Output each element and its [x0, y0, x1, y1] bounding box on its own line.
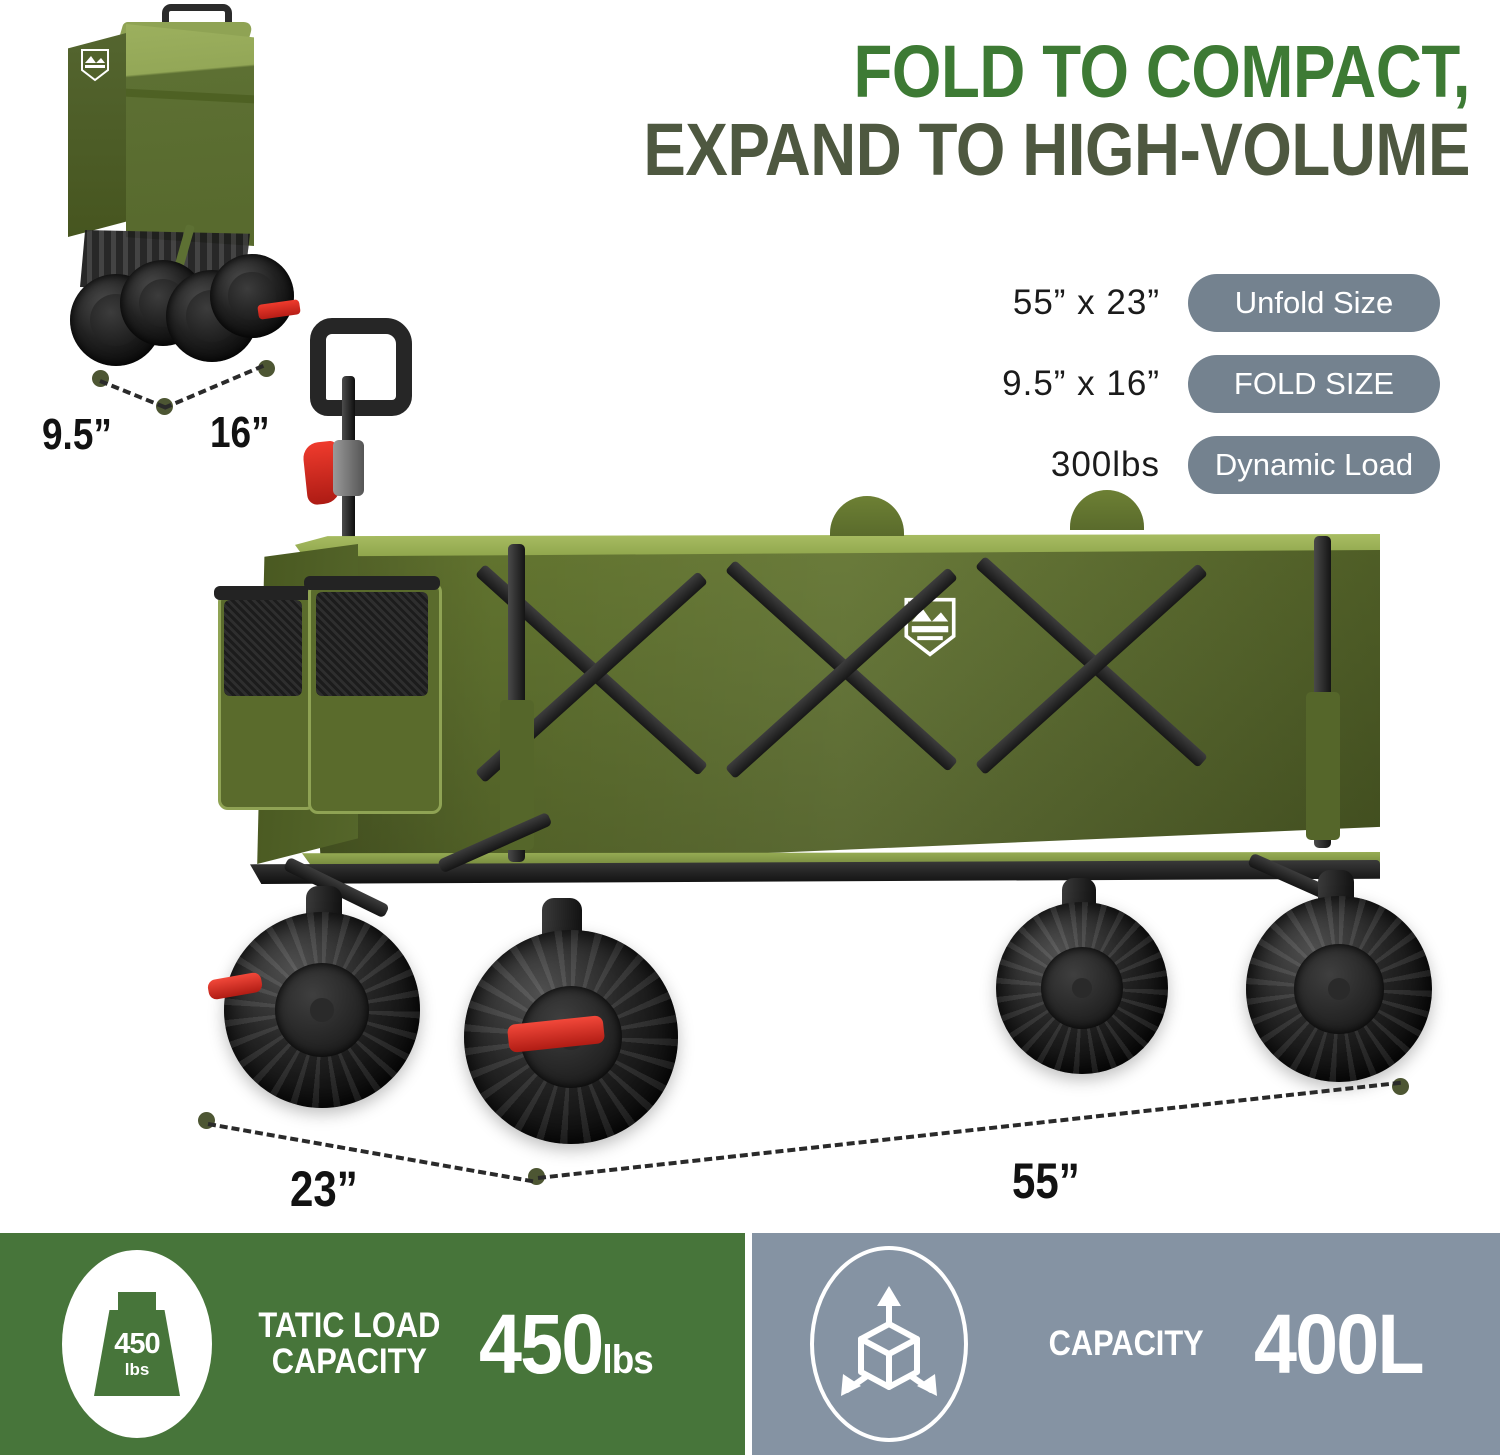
weight-icon-value: 450 — [94, 1328, 180, 1361]
wagon-wheel — [1246, 896, 1432, 1082]
capacity-badge — [810, 1246, 968, 1442]
dimension-line-depth — [208, 1122, 534, 1183]
post-sleeve — [1306, 692, 1340, 840]
handle-collar — [333, 440, 364, 496]
pull-handle-grip — [310, 318, 412, 416]
capacity-value: 400L — [1254, 1296, 1423, 1393]
static-load-number: 450 — [479, 1297, 602, 1391]
banner-capacity: CAPACITY 400L — [752, 1233, 1500, 1455]
banner-static-load: 450 lbs TATIC LOAD CAPACITY 450lbs — [0, 1233, 745, 1455]
volume-box-icon — [833, 1284, 945, 1404]
infographic-canvas: FOLD TO COMPACT, EXPAND TO HIGH-VOLUME 5… — [0, 0, 1500, 1455]
headline: FOLD TO COMPACT, EXPAND TO HIGH-VOLUME — [430, 36, 1470, 186]
static-load-label: TATIC LOAD CAPACITY — [258, 1308, 440, 1381]
weight-icon-unit: lbs — [94, 1360, 180, 1380]
wagon-wheel — [224, 912, 420, 1108]
unfolded-wagon-image — [190, 300, 1450, 1120]
wagon-body-shading — [300, 550, 1380, 872]
folded-depth-label: 9.5” — [42, 410, 112, 460]
unfolded-depth-label: 23” — [290, 1160, 358, 1218]
static-load-value: 450lbs — [479, 1296, 653, 1393]
weight-icon: 450 lbs — [94, 1292, 180, 1396]
folded-front-panel — [126, 24, 254, 246]
capacity-label: CAPACITY — [1049, 1326, 1204, 1362]
capacity-label-line1: CAPACITY — [1049, 1326, 1204, 1362]
brand-logo-icon — [80, 48, 110, 82]
headline-line-2: EXPAND TO HIGH-VOLUME — [576, 114, 1470, 186]
mesh-panel — [224, 600, 302, 696]
static-load-label-line1: TATIC LOAD — [258, 1308, 440, 1344]
frame-hump — [830, 496, 904, 536]
capacity-number: 400L — [1254, 1297, 1423, 1391]
pocket-rim — [304, 576, 440, 590]
dimension-line-depth — [99, 379, 165, 409]
static-load-label-line2: CAPACITY — [258, 1344, 440, 1380]
frame-hump — [1070, 490, 1144, 530]
unfolded-length-label: 55” — [1012, 1152, 1080, 1210]
static-load-unit: lbs — [602, 1338, 652, 1382]
weight-icon-handle — [118, 1292, 156, 1312]
wagon-wheel — [996, 902, 1168, 1074]
pocket-rim — [214, 586, 314, 600]
mesh-panel — [316, 592, 428, 696]
wheel-hub-cap — [310, 998, 334, 1022]
headline-line-1: FOLD TO COMPACT, — [576, 36, 1470, 108]
weight-badge: 450 lbs — [62, 1250, 212, 1438]
